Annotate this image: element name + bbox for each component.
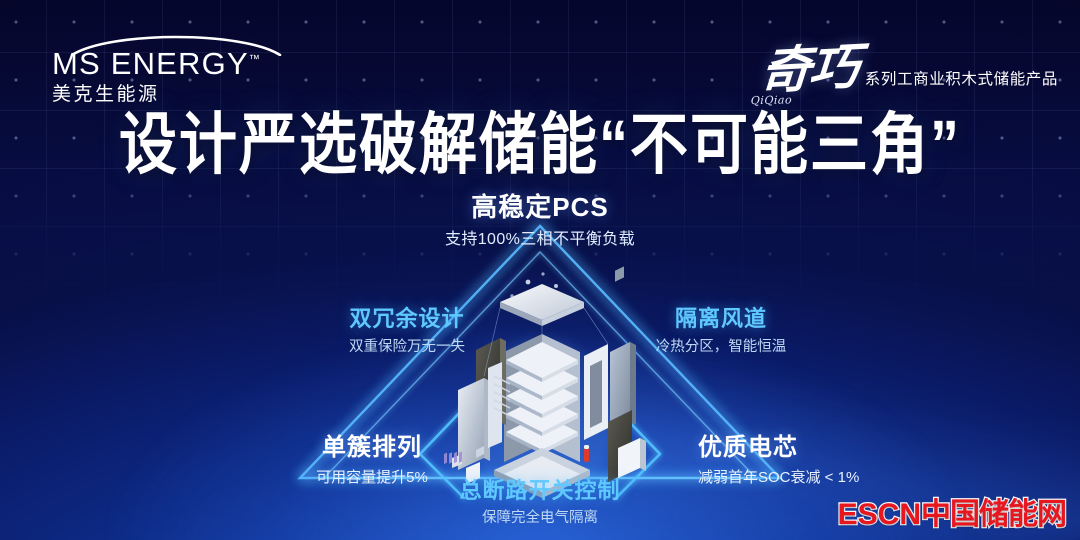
watermark-cn: 中国储能网 [921, 498, 1066, 531]
watermark-en: ESCN [838, 498, 921, 531]
vignette-overlay [0, 0, 1080, 540]
escn-watermark: ESCN中国储能网 [838, 500, 1066, 530]
slide-canvas: MS ENERGY™ 美克生能源 奇巧QiQiao 系列工商业积木式储能产品 设… [0, 0, 1080, 540]
